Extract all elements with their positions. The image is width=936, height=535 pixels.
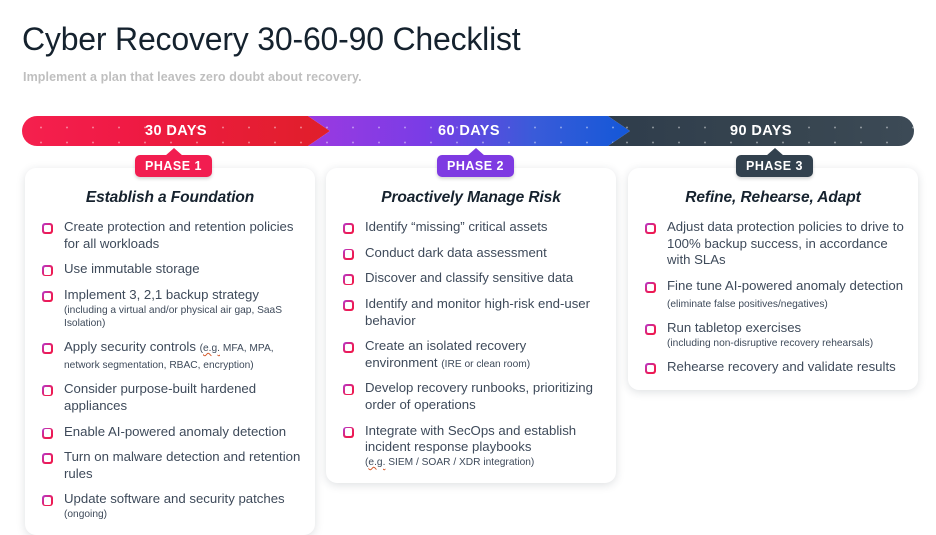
checkbox-icon[interactable] [42,223,53,234]
phase-badge-3: PHASE 3 [736,155,813,177]
checklist-item[interactable]: Run tabletop exercises(including non-dis… [642,320,904,350]
checklist-item-label: Run tabletop exercises(including non-dis… [667,320,873,350]
checkbox-icon[interactable] [645,282,656,293]
phase-badge-2: PHASE 2 [437,155,514,177]
checklist-item[interactable]: Consider purpose-built hardened applianc… [39,381,301,414]
checklist-item[interactable]: Develop recovery runbooks, prioritizing … [340,380,602,413]
checklist-items: Create protection and retention policies… [39,219,301,521]
checkbox-icon[interactable] [343,223,354,234]
checklist-item-note: (e.g. SIEM / SOAR / XDR integration) [365,456,602,469]
checklist-item-note: (including a virtual and/or physical air… [64,304,301,331]
checkbox-icon[interactable] [343,274,354,285]
checkbox-icon[interactable] [343,384,354,395]
checklist-item[interactable]: Fine tune AI-powered anomaly detection (… [642,278,904,311]
checklist-infographic: Cyber Recovery 30-60-90 Checklist Implem… [0,0,936,520]
checkbox-icon[interactable] [42,291,53,302]
checklist-item-label: Consider purpose-built hardened applianc… [64,381,301,414]
timeline-segment-30-days: 30 DAYS [22,116,330,146]
card-title: Proactively Manage Risk [340,189,602,207]
checklist-item[interactable]: Integrate with SecOps and establish inci… [340,423,602,470]
card-title: Establish a Foundation [39,189,301,207]
checklist-item[interactable]: Enable AI-powered anomaly detection [39,424,301,441]
checklist-item[interactable]: Adjust data protection policies to drive… [642,219,904,269]
phase-badge-3-label: PHASE 3 [746,159,803,173]
timeline-segment-90-days: 90 DAYS [608,116,914,146]
checklist-item[interactable]: Discover and classify sensitive data [340,270,602,287]
checklist-item-label: Enable AI-powered anomaly detection [64,424,286,441]
timeline-label-30-days: 30 DAYS [145,123,207,139]
phase-card-2: Proactively Manage Risk Identify “missin… [326,168,616,483]
checklist-item-note: (ongoing) [64,508,285,521]
page-subtitle: Implement a plan that leaves zero doubt … [23,70,362,84]
phase-timeline: 30 DAYS 60 DAYS 90 DAYS [22,116,914,146]
checkbox-icon[interactable] [645,324,656,335]
checklist-item-label: Develop recovery runbooks, prioritizing … [365,380,602,413]
checkbox-icon[interactable] [645,223,656,234]
checklist-item[interactable]: Identify “missing” critical assets [340,219,602,236]
checklist-item[interactable]: Use immutable storage [39,261,301,278]
checklist-item-note: (including non-disruptive recovery rehea… [667,337,873,350]
checkbox-icon[interactable] [42,265,53,276]
checkbox-icon[interactable] [645,363,656,374]
phase-badge-2-label: PHASE 2 [447,159,504,173]
checkbox-icon[interactable] [42,343,53,354]
checklist-item-note: (e.g. MFA, MPA, network segmentation, RB… [64,343,274,371]
checkbox-icon[interactable] [343,427,354,438]
checkbox-icon[interactable] [343,342,354,353]
checklist-item[interactable]: Rehearse recovery and validate results [642,359,904,376]
checklist-item[interactable]: Turn on malware detection and retention … [39,449,301,482]
checklist-item-label: Fine tune AI-powered anomaly detection (… [667,278,904,311]
spellcheck-underlined-text: e.g. [368,457,385,468]
checklist-item-label: Turn on malware detection and retention … [64,449,301,482]
spellcheck-underlined-text: e.g. [203,343,220,354]
checklist-item[interactable]: Identify and monitor high-risk end-user … [340,296,602,329]
checklist-item-label: Create protection and retention policies… [64,219,301,252]
checkbox-icon[interactable] [42,453,53,464]
checklist-item[interactable]: Implement 3, 2,1 backup strategy(includi… [39,287,301,330]
checklist-item[interactable]: Conduct dark data assessment [340,245,602,262]
checkbox-icon[interactable] [42,385,53,396]
timeline-label-60-days: 60 DAYS [438,123,500,139]
checklist-item-label: Apply security controls (e.g. MFA, MPA, … [64,339,301,372]
checklist-item[interactable]: Create protection and retention policies… [39,219,301,252]
checklist-item-label: Integrate with SecOps and establish inci… [365,423,602,470]
timeline-label-90-days: 90 DAYS [730,123,792,139]
phase-card-1: Establish a Foundation Create protection… [25,168,315,535]
checklist-item-label: Identify “missing” critical assets [365,219,547,236]
card-title: Refine, Rehearse, Adapt [642,189,904,207]
checklist-item[interactable]: Update software and security patches(ong… [39,491,301,521]
checklist-item-label: Adjust data protection policies to drive… [667,219,904,269]
checklist-item-label: Identify and monitor high-risk end-user … [365,296,602,329]
checklist-item-label: Rehearse recovery and validate results [667,359,896,376]
checklist-item-label: Conduct dark data assessment [365,245,547,262]
timeline-segment-60-days: 60 DAYS [308,116,630,146]
checklist-item-note: (IRE or clean room) [441,359,530,370]
checkbox-icon[interactable] [42,428,53,439]
checklist-item-note: (eliminate false positives/negatives) [667,299,828,310]
checklist-item[interactable]: Create an isolated recovery environment … [340,338,602,371]
checklist-item-label: Create an isolated recovery environment … [365,338,602,371]
checklist-items: Adjust data protection policies to drive… [642,219,904,376]
checklist-item-label: Update software and security patches(ong… [64,491,285,521]
checklist-item-label: Implement 3, 2,1 backup strategy(includi… [64,287,301,330]
phase-card-3: Refine, Rehearse, Adapt Adjust data prot… [628,168,918,390]
checklist-item-label: Use immutable storage [64,261,200,278]
phase-badge-1: PHASE 1 [135,155,212,177]
checklist-items: Identify “missing” critical assetsConduc… [340,219,602,469]
checklist-item-label: Discover and classify sensitive data [365,270,573,287]
phase-badge-1-label: PHASE 1 [145,159,202,173]
page-title: Cyber Recovery 30-60-90 Checklist [22,21,521,58]
checklist-item[interactable]: Apply security controls (e.g. MFA, MPA, … [39,339,301,372]
checkbox-icon[interactable] [343,300,354,311]
checkbox-icon[interactable] [42,495,53,506]
checkbox-icon[interactable] [343,249,354,260]
